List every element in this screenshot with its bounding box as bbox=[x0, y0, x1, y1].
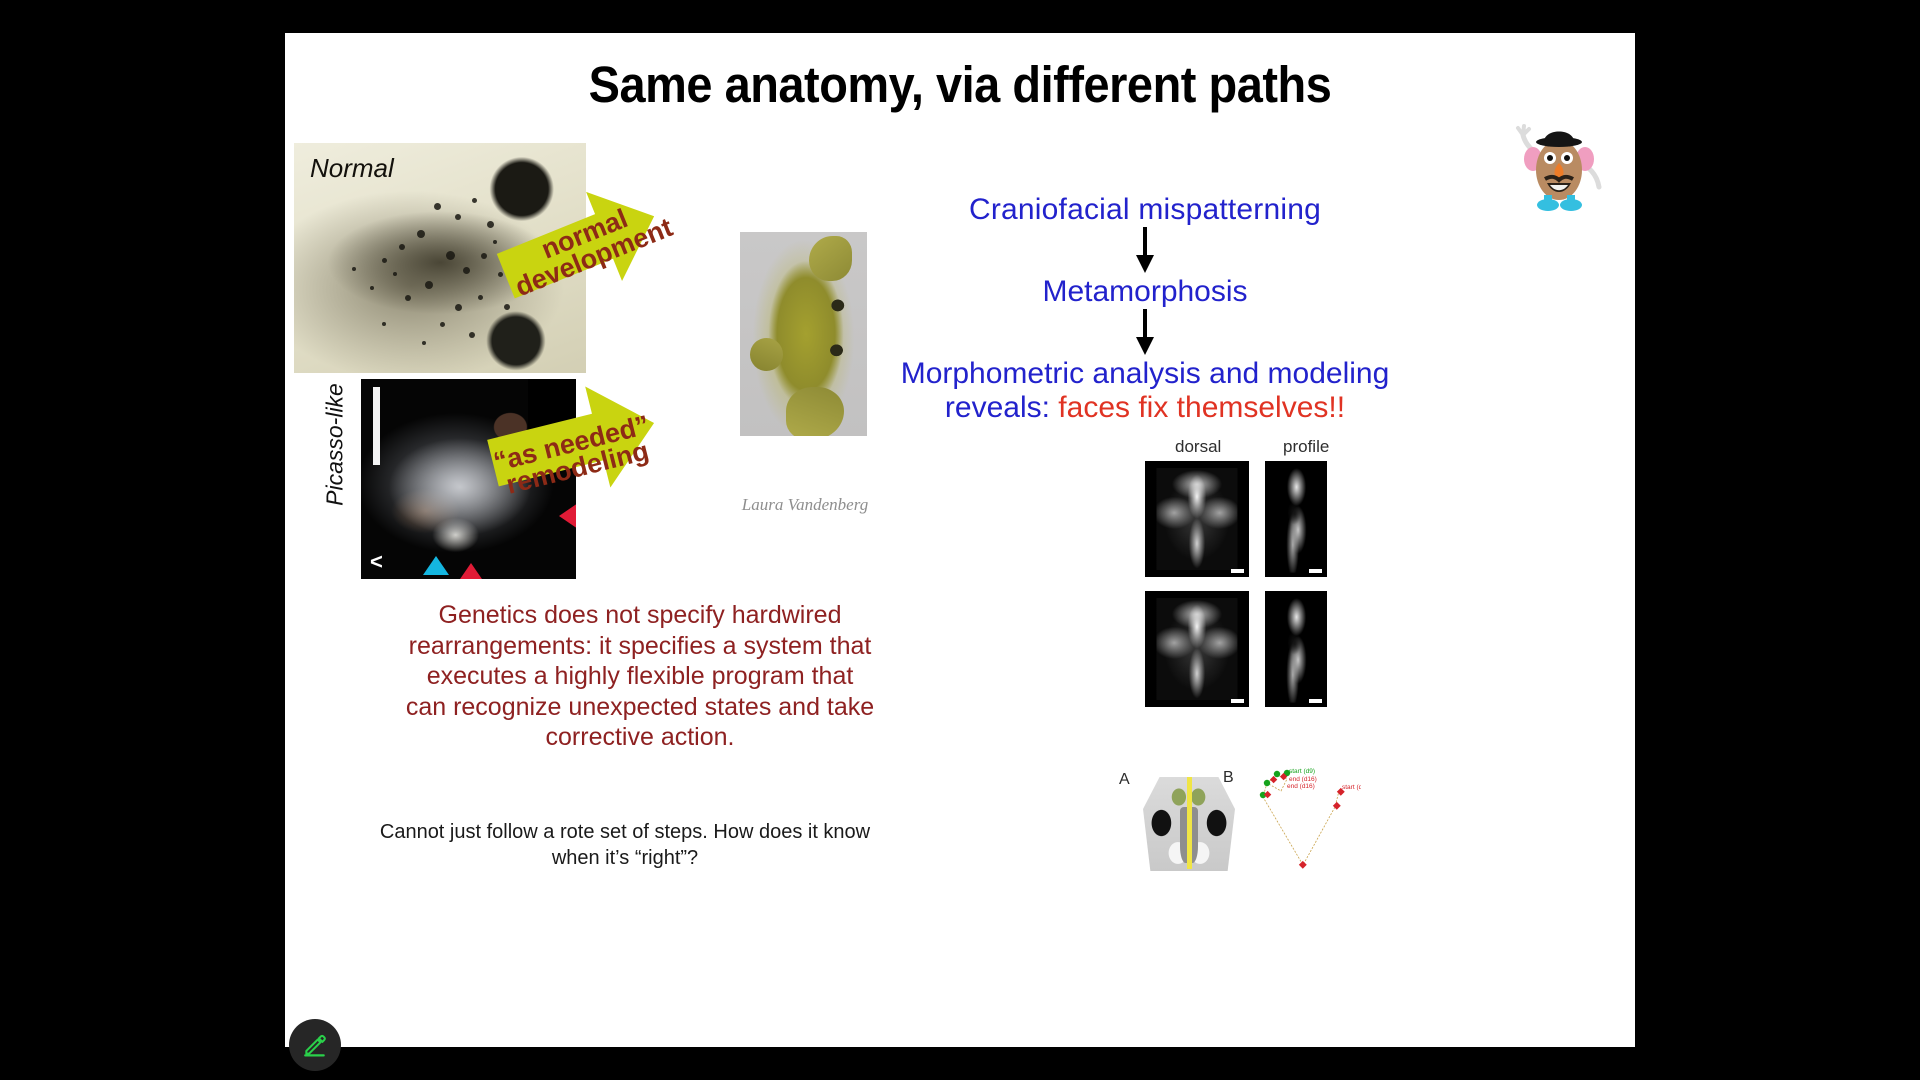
annotation-start-green: start (d9) bbox=[1289, 768, 1315, 775]
ct-column-label-profile: profile bbox=[1283, 437, 1329, 457]
flow-step-4: reveals: faces fix themselves!! bbox=[795, 391, 1495, 425]
landmark-figure: A B start (d9) end (d16) bbox=[1117, 759, 1362, 874]
ct-image-profile-malformed bbox=[1265, 591, 1327, 707]
mr-potato-head-icon bbox=[1503, 117, 1613, 217]
photo-credit: Laura Vandenberg bbox=[695, 495, 915, 515]
head-schematic bbox=[1143, 771, 1235, 871]
screen: Same anatomy, via different paths bbox=[0, 0, 1920, 1080]
flow-step-3: Morphometric analysis and modeling bbox=[795, 357, 1495, 391]
pencil-icon bbox=[302, 1032, 328, 1058]
statement-paragraph: Genetics does not specify hardwired rear… bbox=[405, 600, 875, 753]
annotation-start-red: start (d9) bbox=[1342, 784, 1361, 791]
microct-figure: dorsal profile unaffected malformed eyes bbox=[1131, 437, 1363, 737]
slide-canvas: Same anatomy, via different paths bbox=[285, 33, 1635, 1047]
normal-label: Normal bbox=[310, 153, 394, 184]
ct-image-dorsal-malformed bbox=[1145, 591, 1249, 707]
flow-diagram: Craniofacial mispatterning Metamorphosis… bbox=[795, 193, 1495, 425]
cyan-arrowhead-up bbox=[423, 556, 449, 575]
annotation-end-red-1: end (d16) bbox=[1289, 776, 1317, 783]
ct-image-dorsal-unaffected bbox=[1145, 461, 1249, 577]
midline-axis bbox=[1187, 773, 1192, 869]
question-paragraph: Cannot just follow a rote set of steps. … bbox=[375, 820, 875, 871]
as-needed-remodeling-arrow: “as needed” remodeling bbox=[487, 373, 662, 518]
flow-step-4-highlight: faces fix themselves!! bbox=[1058, 391, 1345, 424]
flow-arrow-1 bbox=[795, 227, 1495, 275]
panel-letter-b: B bbox=[1223, 769, 1234, 787]
landmark-scatter: start (d9) end (d16) end (d16) start (d9… bbox=[1243, 761, 1361, 873]
ct-image-profile-unaffected bbox=[1265, 461, 1327, 577]
flow-step-2: Metamorphosis bbox=[795, 275, 1495, 309]
flow-step-1: Craniofacial mispatterning bbox=[795, 193, 1495, 227]
flow-arrow-2 bbox=[795, 309, 1495, 357]
flow-step-4-prefix: reveals: bbox=[945, 391, 1050, 424]
annotation-end-red-2: end (d16) bbox=[1287, 783, 1315, 790]
picasso-like-label: Picasso-like bbox=[322, 355, 349, 535]
ct-column-label-dorsal: dorsal bbox=[1175, 437, 1221, 457]
page-title: Same anatomy, via different paths bbox=[339, 55, 1581, 114]
red-arrowhead-up bbox=[458, 563, 484, 579]
caret-marker: < bbox=[370, 551, 383, 573]
panel-letter-a: A bbox=[1119, 771, 1130, 789]
scale-bar bbox=[373, 387, 380, 465]
normal-development-arrow: normal development bbox=[500, 191, 670, 321]
edit-annotation-button[interactable] bbox=[289, 1019, 341, 1071]
